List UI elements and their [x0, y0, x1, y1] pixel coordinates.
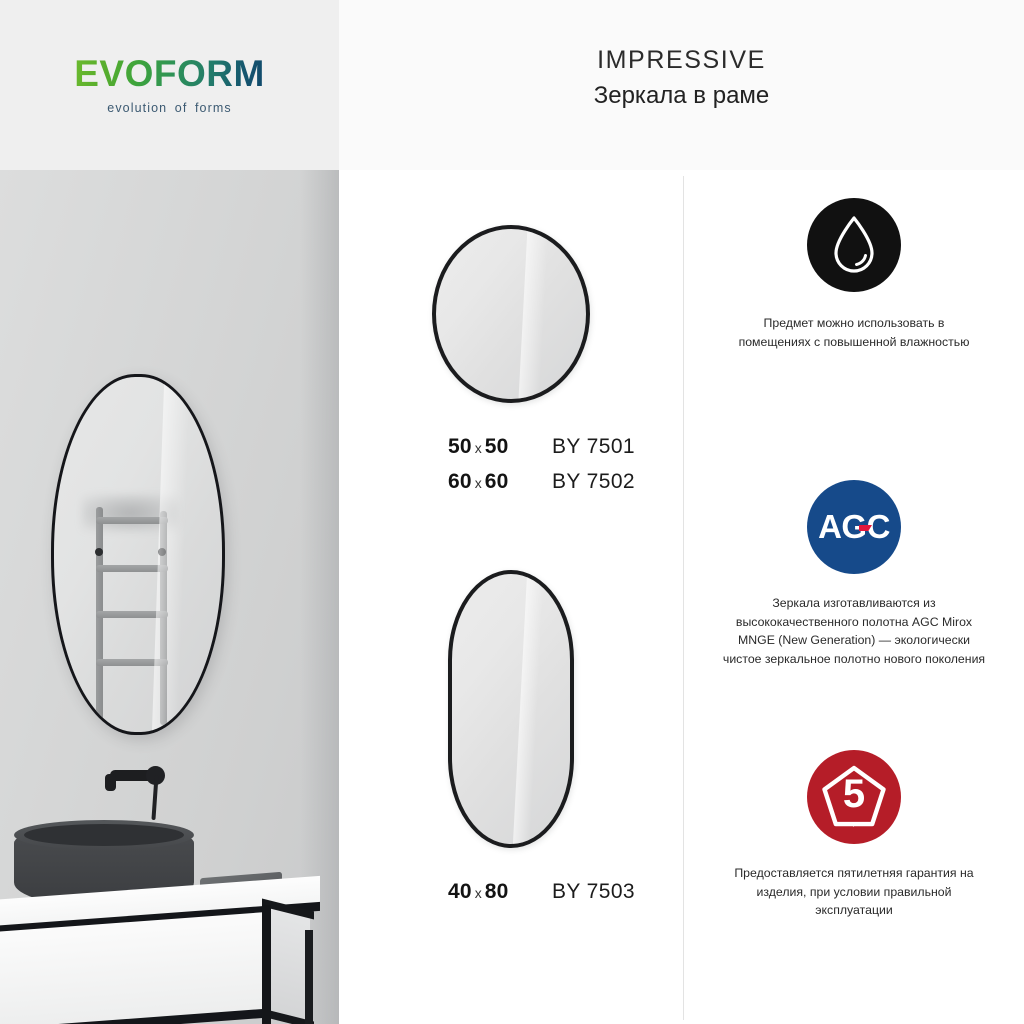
photo-vanity-side-panel — [268, 907, 310, 1024]
feature-moisture-resistant: Предмет можно использовать в помещениях … — [684, 198, 1024, 351]
brand-logo-block[interactable]: EVOFORM evolution of forms — [0, 0, 339, 170]
page-header: EVOFORM evolution of forms IMPRESSIVE Зе… — [0, 0, 1024, 170]
table-row: 40x80 BY 7503 — [386, 874, 636, 909]
size-separator: x — [472, 440, 485, 456]
oval-mirror-spec-table: 40x80 BY 7503 — [386, 874, 636, 909]
size-separator: x — [472, 885, 485, 901]
agc-logo-icon: AGC — [807, 480, 901, 574]
page-title-group: IMPRESSIVE Зеркала в раме — [339, 0, 1024, 170]
water-drop-icon — [807, 198, 901, 292]
feature-text: Предмет можно использовать в помещениях … — [729, 314, 979, 351]
warranty-pentagon-icon: 5 лет гарантии — [807, 750, 901, 844]
photo-sink-interior — [24, 824, 184, 846]
page-subtitle: Зеркала в раме — [594, 81, 770, 111]
agc-logo-text: AGC — [807, 480, 901, 574]
round-mirror-spec-table: 50x50 BY 7501 60x60 BY 7502 — [386, 429, 636, 499]
size-height: 80 — [485, 880, 509, 903]
oval-mirror-icon — [448, 570, 574, 848]
feature-column: Предмет можно использовать в помещениях … — [684, 170, 1024, 1024]
feature-agc-glass: AGC Зеркала изготавливаются из высококач… — [684, 480, 1024, 669]
size-width: 40 — [448, 880, 472, 903]
feature-text: Предоставляется пятилетняя гарантия на и… — [725, 864, 983, 920]
size-cell: 60x60 — [386, 464, 551, 499]
table-row: 50x50 BY 7501 — [386, 429, 636, 464]
warranty-years-caption: лет гарантии — [807, 822, 901, 827]
size-cell: 50x50 — [386, 429, 551, 464]
photo-frame-post-far — [305, 930, 313, 1024]
size-height: 60 — [485, 470, 509, 493]
photo-frame-post-near — [262, 905, 271, 1024]
feature-warranty: 5 лет гарантии Предоставляется пятилетня… — [684, 750, 1024, 920]
product-oval-mirror[interactable]: 40x80 BY 7503 — [339, 570, 683, 909]
photo-oval-mirror — [51, 374, 225, 735]
feature-text: Зеркала изготавливаются из высококачеств… — [720, 594, 988, 669]
size-cell: 40x80 — [386, 874, 551, 909]
size-height: 50 — [485, 435, 509, 458]
product-round-mirror[interactable]: 50x50 BY 7501 60x60 BY 7502 — [339, 225, 683, 499]
article-code: BY 7503 — [551, 874, 636, 909]
catalog-page: EVOFORM evolution of forms IMPRESSIVE Зе… — [0, 0, 1024, 1024]
product-column: 50x50 BY 7501 60x60 BY 7502 40x80 BY 750… — [339, 170, 683, 1024]
size-width: 50 — [448, 435, 472, 458]
article-code: BY 7502 — [551, 464, 636, 499]
round-mirror-icon — [432, 225, 590, 403]
table-row: 60x60 BY 7502 — [386, 464, 636, 499]
size-width: 60 — [448, 470, 472, 493]
warranty-years-number: 5 — [807, 750, 901, 844]
interior-photo — [0, 170, 339, 1024]
brand-tagline: evolution of forms — [107, 101, 231, 115]
brand-wordmark: EVOFORM — [74, 55, 265, 92]
size-separator: x — [472, 475, 485, 491]
page-title: IMPRESSIVE — [597, 45, 766, 76]
photo-vanity-drawer — [0, 912, 270, 1024]
article-code: BY 7501 — [551, 429, 636, 464]
photo-faucet-tip — [105, 774, 116, 791]
